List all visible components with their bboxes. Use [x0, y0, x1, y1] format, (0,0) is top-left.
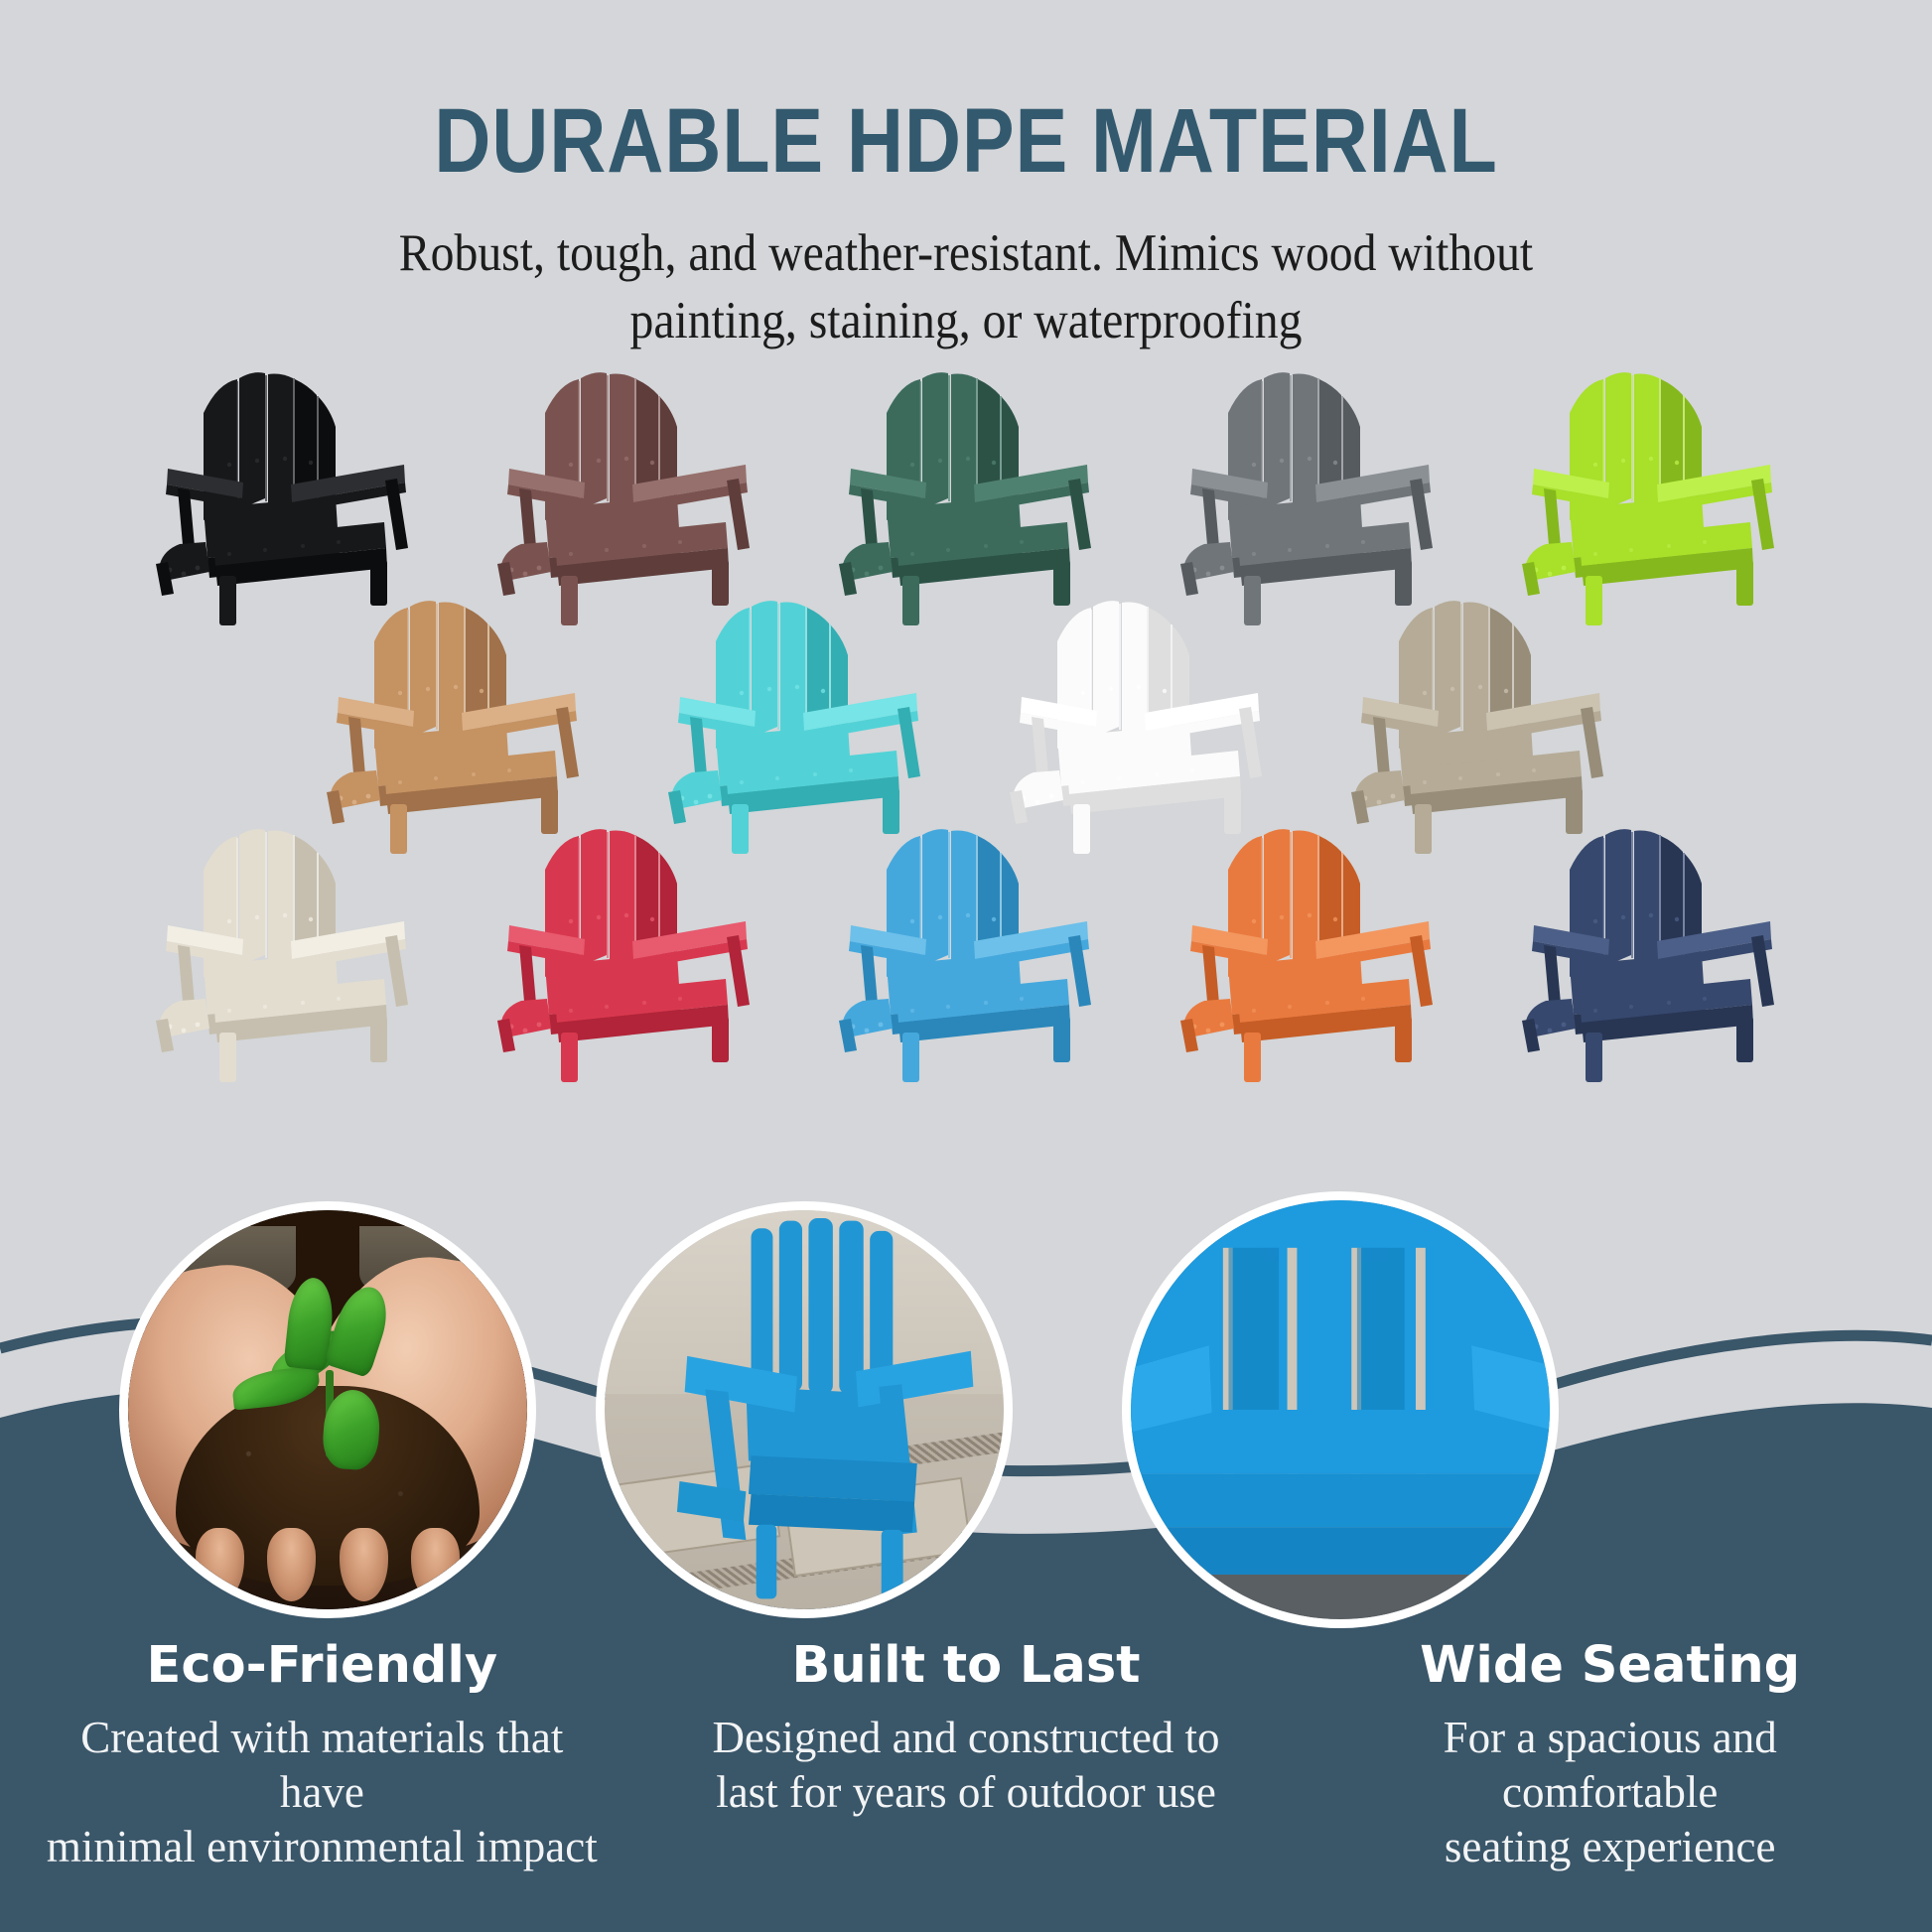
caption-built-to-last: Built to Last Designed and constructed t…	[644, 1636, 1289, 1874]
page-subtitle: Robust, tough, and weather-resistant. Mi…	[385, 187, 1547, 355]
adirondack-chair-icon	[1500, 826, 1798, 1060]
caption-body: Designed and constructed to last for yea…	[688, 1711, 1244, 1820]
subtitle-line-1: Robust, tough, and weather-resistant. Mi…	[385, 220, 1547, 288]
chair-swatch-lime-green[interactable]	[1500, 369, 1798, 604]
blue-chair-on-patio-icon	[605, 1210, 1004, 1609]
caption-body-line-1: For a spacious and comfortable	[1444, 1713, 1777, 1817]
chair-swatch-teak[interactable]	[305, 598, 603, 832]
chair-swatch-orange[interactable]	[1159, 826, 1456, 1060]
caption-heading: Wide Seating	[1313, 1636, 1906, 1695]
caption-body-line-2: minimal environmental impact	[47, 1822, 598, 1871]
caption-body-line-1: Created with materials that have	[80, 1713, 563, 1817]
seedling-in-hands-icon	[128, 1210, 527, 1609]
adirondack-chair-icon	[1159, 369, 1456, 604]
feature-circles	[0, 1191, 1932, 1658]
page-title: DURABLE HDPE MATERIAL	[135, 0, 1797, 187]
caption-body-line-2: seating experience	[1445, 1822, 1776, 1871]
feature-image-built-to-last	[596, 1201, 1013, 1618]
adirondack-chair-icon	[476, 369, 773, 604]
caption-body-line-1: Designed and constructed to	[712, 1713, 1219, 1762]
adirondack-chair-icon	[1500, 369, 1798, 604]
infographic-canvas: DURABLE HDPE MATERIAL Robust, tough, and…	[0, 0, 1932, 1932]
chair-swatch-white[interactable]	[988, 598, 1286, 832]
chair-swatch-sky-blue[interactable]	[817, 826, 1115, 1060]
adirondack-chair-icon	[817, 369, 1115, 604]
caption-wide-seating: Wide Seating For a spacious and comforta…	[1288, 1636, 1932, 1874]
adirondack-chair-icon	[134, 369, 432, 604]
feature-image-wide-seating	[1122, 1191, 1559, 1628]
chair-swatch-brown[interactable]	[476, 369, 773, 604]
chair-swatch-beige[interactable]	[1329, 598, 1627, 832]
caption-body: Created with materials that have minimal…	[44, 1711, 600, 1874]
wide-seat-closeup-icon	[1131, 1200, 1550, 1619]
chair-swatch-black[interactable]	[134, 369, 432, 604]
adirondack-chair-icon	[646, 598, 944, 832]
feature-image-eco-friendly	[119, 1201, 536, 1618]
chair-row-3	[0, 826, 1932, 1060]
caption-eco-friendly: Eco-Friendly Created with materials that…	[0, 1636, 644, 1874]
caption-heading: Eco-Friendly	[26, 1636, 619, 1695]
subtitle-line-2: painting, staining, or waterproofing	[385, 288, 1547, 355]
adirondack-chair-icon	[476, 826, 773, 1060]
adirondack-chair-icon	[134, 826, 432, 1060]
header: DURABLE HDPE MATERIAL Robust, tough, and…	[0, 0, 1932, 355]
chair-swatch-navy[interactable]	[1500, 826, 1798, 1060]
adirondack-chair-icon	[988, 598, 1286, 832]
chair-swatch-turquoise[interactable]	[646, 598, 944, 832]
caption-heading: Built to Last	[670, 1636, 1263, 1695]
chair-row-2	[0, 598, 1932, 832]
adirondack-chair-icon	[1329, 598, 1627, 832]
adirondack-chair-icon	[817, 826, 1115, 1060]
caption-body: For a spacious and comfortable seating e…	[1332, 1711, 1888, 1874]
chair-swatch-ivory[interactable]	[134, 826, 432, 1060]
chair-color-grid	[0, 369, 1932, 1060]
chair-swatch-gray[interactable]	[1159, 369, 1456, 604]
feature-captions: Eco-Friendly Created with materials that…	[0, 1636, 1932, 1874]
chair-row-1	[0, 369, 1932, 604]
adirondack-chair-icon	[305, 598, 603, 832]
adirondack-chair-icon	[1159, 826, 1456, 1060]
caption-body-line-2: last for years of outdoor use	[716, 1767, 1216, 1817]
chair-swatch-dark-green[interactable]	[817, 369, 1115, 604]
chair-swatch-red[interactable]	[476, 826, 773, 1060]
